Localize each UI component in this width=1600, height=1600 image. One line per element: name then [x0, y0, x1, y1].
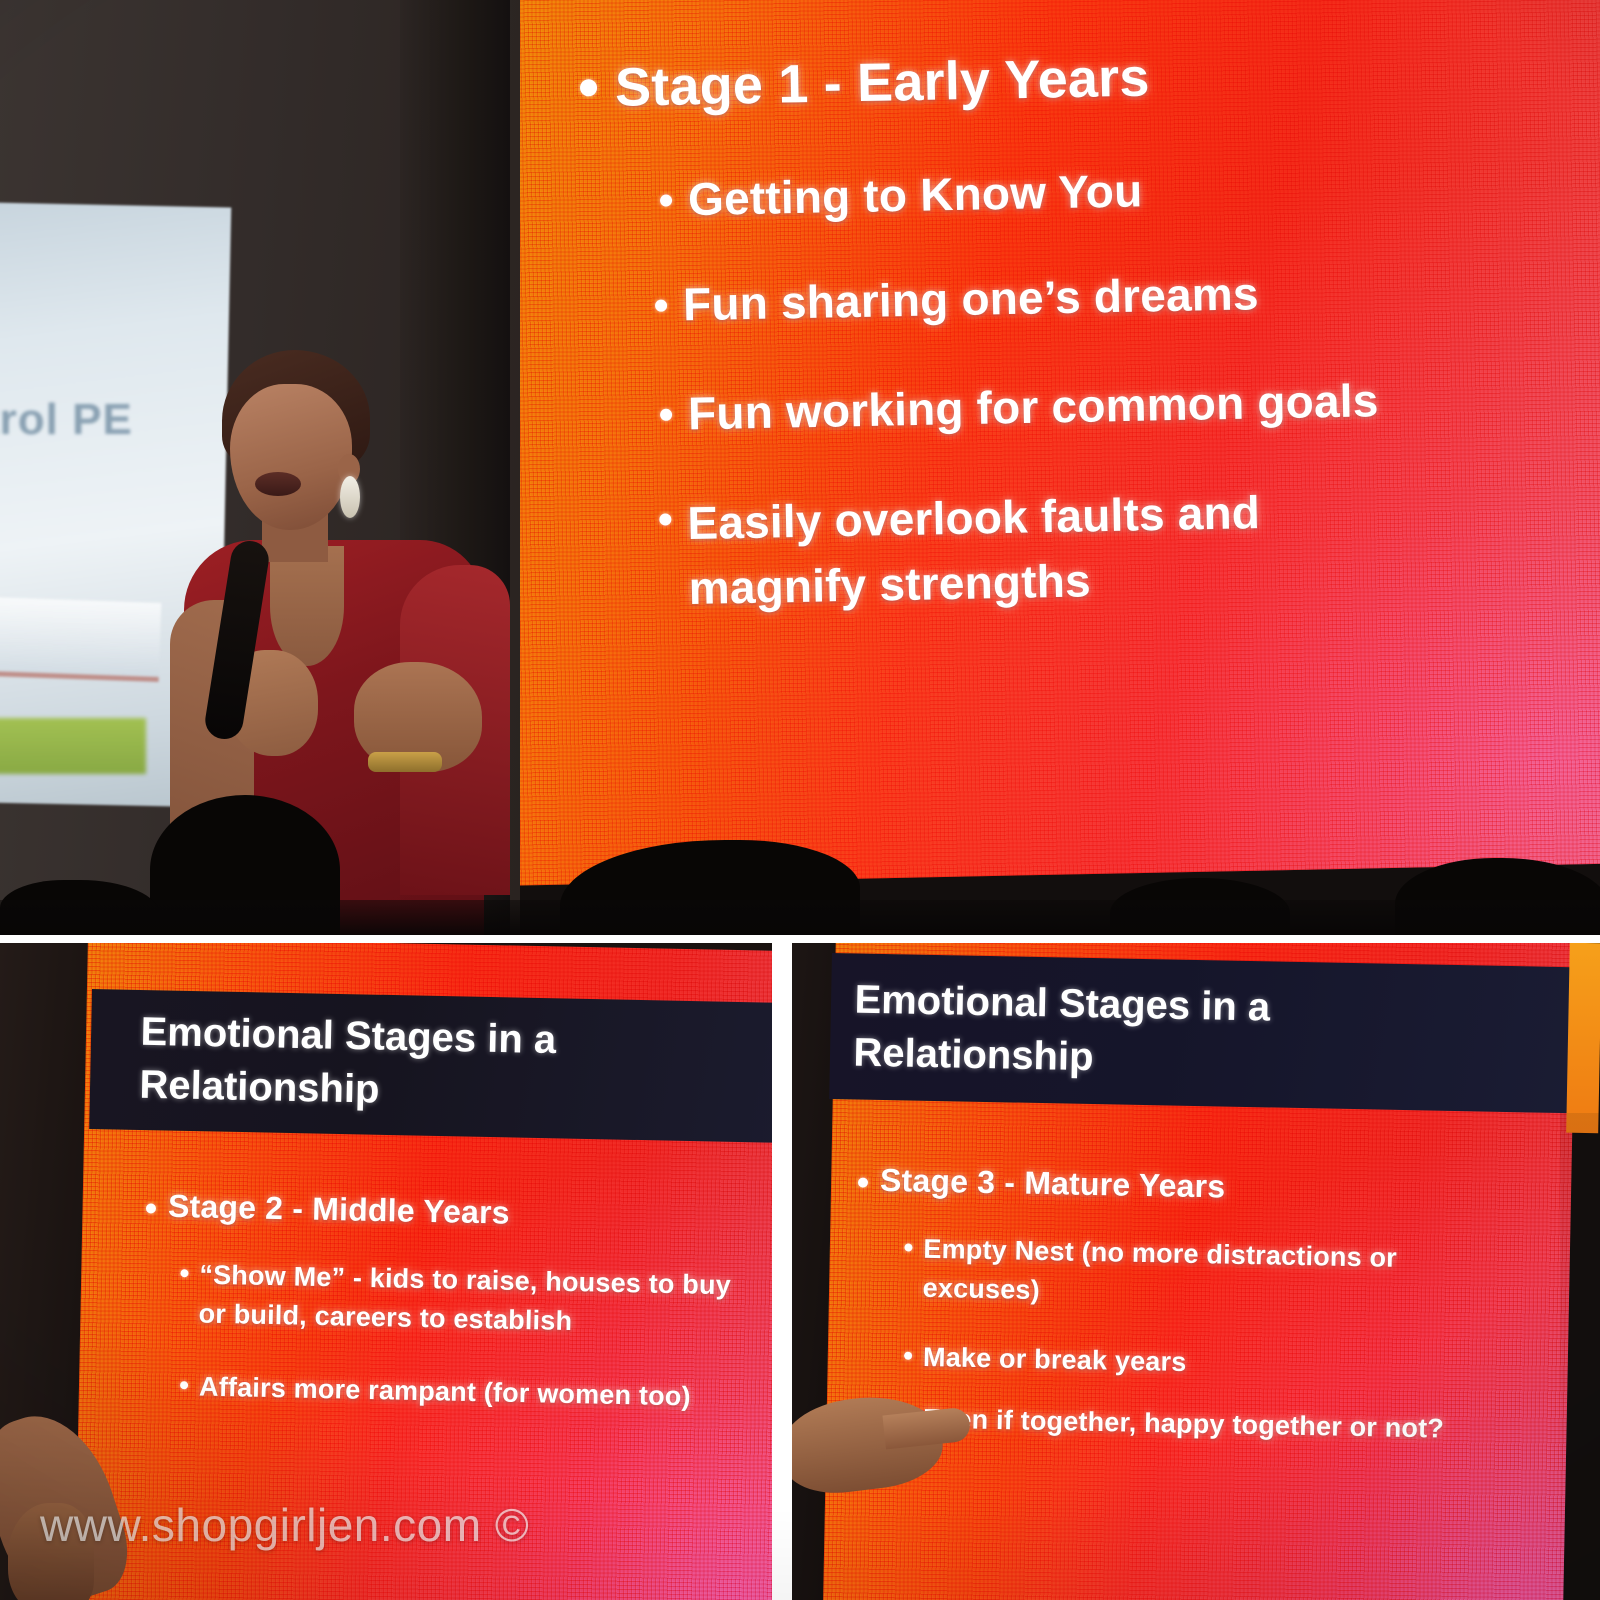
bullet-stage2: Stage 2 - Middle Years: [146, 1187, 510, 1231]
bullet-dot-icon: [180, 1381, 188, 1389]
bullet-text: “Show Me” - kids to raise, houses to buy…: [198, 1256, 760, 1345]
bullet-dot-icon: [146, 1203, 156, 1213]
bullet-show-me: “Show Me” - kids to raise, houses to buy…: [179, 1255, 760, 1344]
bullet-text: Stage 2 - Middle Years: [168, 1188, 510, 1232]
slide-title: Emotional Stages in a Relationship: [139, 1006, 661, 1122]
bullet-overlook-faults: Easily overlook faults and magnify stren…: [659, 476, 1451, 622]
bullet-text: Stage 3 - Mature Years: [880, 1162, 1226, 1206]
bullet-fun-sharing-dreams: Fun sharing one’s dreams: [655, 266, 1260, 332]
bullet-text: Getting to Know You: [688, 163, 1143, 226]
top-photo-panel: trol PE Stage 1 - Early Years: [0, 0, 1600, 935]
bullet-fun-working-goals: Fun working for common goals: [660, 373, 1379, 441]
bullet-dot-icon: [858, 1177, 868, 1187]
panel-divider-vertical: [772, 943, 792, 1600]
photo-collage: trol PE Stage 1 - Early Years: [0, 0, 1600, 1600]
bullet-dot-icon: [655, 300, 667, 312]
bullet-text: Easily overlook faults and magnify stren…: [687, 476, 1451, 621]
bullet-dot-icon: [580, 79, 597, 96]
bullet-dot-icon: [180, 1269, 188, 1277]
panel-divider-horizontal: [0, 935, 1600, 943]
bullet-dot-icon: [660, 409, 672, 421]
bullet-stage3: Stage 3 - Mature Years: [858, 1161, 1226, 1205]
bullet-text: Fun sharing one’s dreams: [683, 266, 1260, 331]
screen-right-orange-strip: [1566, 943, 1600, 1133]
watermark: www.shopgirljen.com ©: [40, 1498, 529, 1552]
bullet-dot-icon: [904, 1243, 912, 1251]
bullet-getting-to-know-you: Getting to Know You: [660, 163, 1143, 226]
screen-right-shadow: [1560, 1113, 1600, 1600]
bullet-stage1: Stage 1 - Early Years: [579, 47, 1150, 120]
bullet-text: Stage 1 - Early Years: [614, 47, 1150, 119]
bullet-dot-icon: [659, 513, 671, 525]
panel-bottom-shadow: [0, 900, 1600, 935]
bottom-right-photo-panel: Emotional Stages in a Relationship Stage…: [792, 943, 1600, 1600]
bullet-text: Make or break years: [923, 1338, 1187, 1382]
bullet-text: Fun working for common goals: [688, 373, 1379, 440]
bullet-text: Empty Nest (no more distractions or excu…: [922, 1230, 1484, 1320]
slide-title: Emotional Stages in a Relationship: [853, 974, 1415, 1090]
bullet-empty-nest: Empty Nest (no more distractions or excu…: [903, 1229, 1484, 1319]
bullet-dot-icon: [904, 1352, 912, 1360]
bullet-dot-icon: [660, 194, 672, 206]
